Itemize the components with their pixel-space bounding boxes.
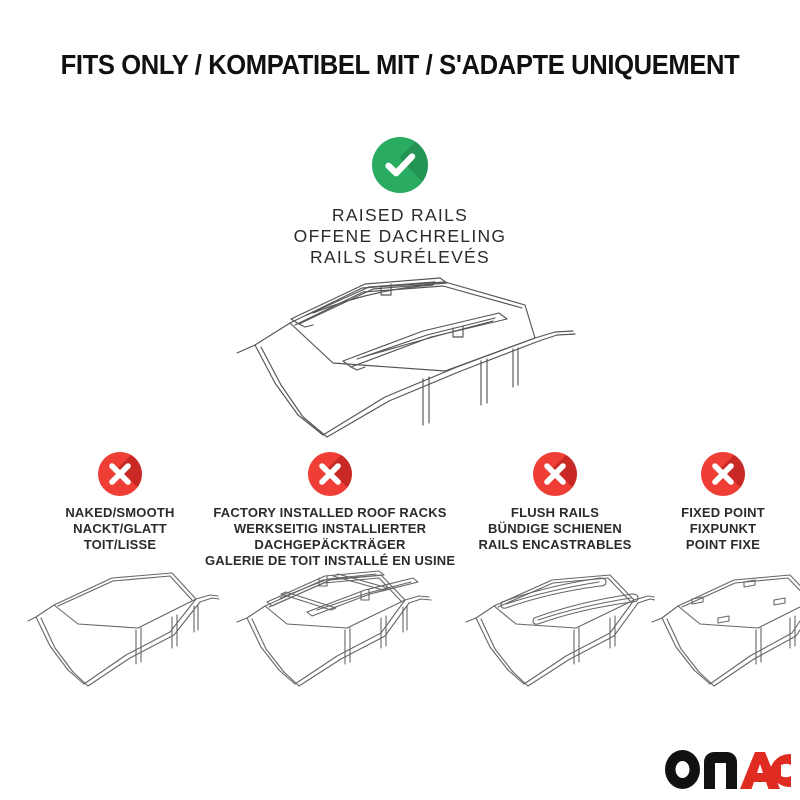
logo-letter-o: [665, 750, 700, 789]
approved-label-en: RAISED RAILS: [0, 205, 800, 226]
label-en: FACTORY INSTALLED ROOF RACKS: [205, 505, 455, 521]
page-title: FITS ONLY / KOMPATIBEL MIT / S'ADAPTE UN…: [28, 50, 772, 80]
incompatible-item-flush-rails: FLUSH RAILS BÜNDIGE SCHIENEN RAILS ENCAS…: [460, 452, 650, 553]
label-de-2: DACHGEPÄCKTRÄGER: [205, 537, 455, 553]
logo-letter-m: [704, 752, 737, 789]
label-fr: RAILS ENCASTRABLES: [460, 537, 650, 553]
x-circle-icon: [701, 452, 745, 496]
incompatible-item-fixed-point: FIXED POINT FIXPUNKT POINT FIXE: [648, 452, 798, 553]
approved-labels: RAISED RAILS OFFENE DACHRELING RAILS SUR…: [0, 205, 800, 268]
x-circle-icon: [98, 452, 142, 496]
approved-label-de: OFFENE DACHRELING: [0, 226, 800, 247]
car-roof-raised-rails-illustration: [195, 275, 605, 450]
incompatible-labels-naked-smooth: NAKED/SMOOTH NACKT/GLATT TOIT/LISSE: [20, 505, 220, 553]
car-roof-factory-racks-illustration: [205, 558, 455, 693]
label-de: NACKT/GLATT: [20, 521, 220, 537]
check-circle-icon: [372, 137, 428, 193]
label-de: BÜNDIGE SCHIENEN: [460, 521, 650, 537]
label-en: NAKED/SMOOTH: [20, 505, 220, 521]
label-en: FIXED POINT: [648, 505, 798, 521]
incompatible-labels-fixed-point: FIXED POINT FIXPUNKT POINT FIXE: [648, 505, 798, 553]
label-fr: TOIT/LISSE: [20, 537, 220, 553]
incompatible-item-factory-racks: FACTORY INSTALLED ROOF RACKS WERKSEITIG …: [205, 452, 455, 569]
x-circle-icon: [533, 452, 577, 496]
label-de-1: WERKSEITIG INSTALLIERTER: [205, 521, 455, 537]
incompatible-item-naked-smooth: NAKED/SMOOTH NACKT/GLATT TOIT/LISSE: [20, 452, 220, 553]
header: FITS ONLY / KOMPATIBEL MIT / S'ADAPTE UN…: [0, 50, 800, 80]
car-roof-fixed-point-illustration: [648, 560, 798, 695]
omac-logo: [663, 748, 791, 792]
incompatible-labels-flush-rails: FLUSH RAILS BÜNDIGE SCHIENEN RAILS ENCAS…: [460, 505, 650, 553]
label-de: FIXPUNKT: [648, 521, 798, 537]
approved-section: RAISED RAILS OFFENE DACHRELING RAILS SUR…: [0, 137, 800, 268]
label-en: FLUSH RAILS: [460, 505, 650, 521]
x-circle-icon: [308, 452, 352, 496]
label-fr: POINT FIXE: [648, 537, 798, 553]
car-roof-naked-smooth-illustration: [20, 560, 220, 695]
car-roof-flush-rails-illustration: [460, 560, 650, 695]
approved-label-fr: RAILS SURÉLEVÉS: [0, 247, 800, 268]
incompatible-section: NAKED/SMOOTH NACKT/GLATT TOIT/LISSE: [0, 452, 800, 702]
